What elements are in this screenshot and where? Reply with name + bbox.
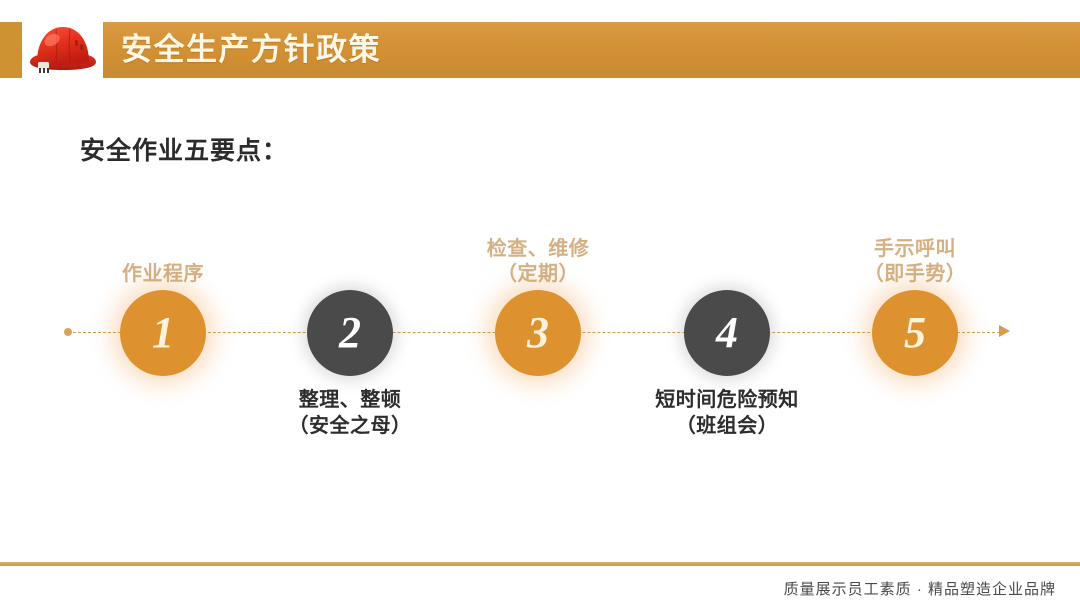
timeline-node-3-circle-wrap[interactable]: 3	[495, 290, 581, 376]
timeline-node-5[interactable]: 手示呼叫 （即手势） 5	[795, 190, 1035, 490]
timeline-node-1-circle-wrap[interactable]: 1	[120, 290, 206, 376]
footer-divider	[0, 562, 1080, 566]
five-points-timeline: 作业程序 1 2 整理、整顿 （安全之母） 检查、维修 （定期） 3 4 短时间…	[0, 190, 1080, 490]
slide-header: 安全生产方针政策	[0, 0, 1080, 100]
timeline-node-2-circle-wrap[interactable]: 2	[307, 290, 393, 376]
timeline-node-3-number[interactable]: 3	[495, 290, 581, 376]
safety-helmet-icon	[26, 18, 100, 80]
timeline-node-5-label: 手示呼叫 （即手势）	[795, 237, 1035, 288]
section-subtitle: 安全作业五要点：	[80, 131, 288, 167]
timeline-node-1-number[interactable]: 1	[120, 290, 206, 376]
header-accent-block	[0, 22, 22, 78]
timeline-node-4-circle-wrap[interactable]: 4	[684, 290, 770, 376]
timeline-node-4-number[interactable]: 4	[684, 290, 770, 376]
page-title: 安全生产方针政策	[121, 26, 381, 74]
timeline-node-2-number[interactable]: 2	[307, 290, 393, 376]
footer-slogan: 质量展示员工素质 · 精品塑造企业品牌	[784, 578, 1056, 599]
timeline-node-5-circle-wrap[interactable]: 5	[872, 290, 958, 376]
timeline-node-5-number[interactable]: 5	[872, 290, 958, 376]
